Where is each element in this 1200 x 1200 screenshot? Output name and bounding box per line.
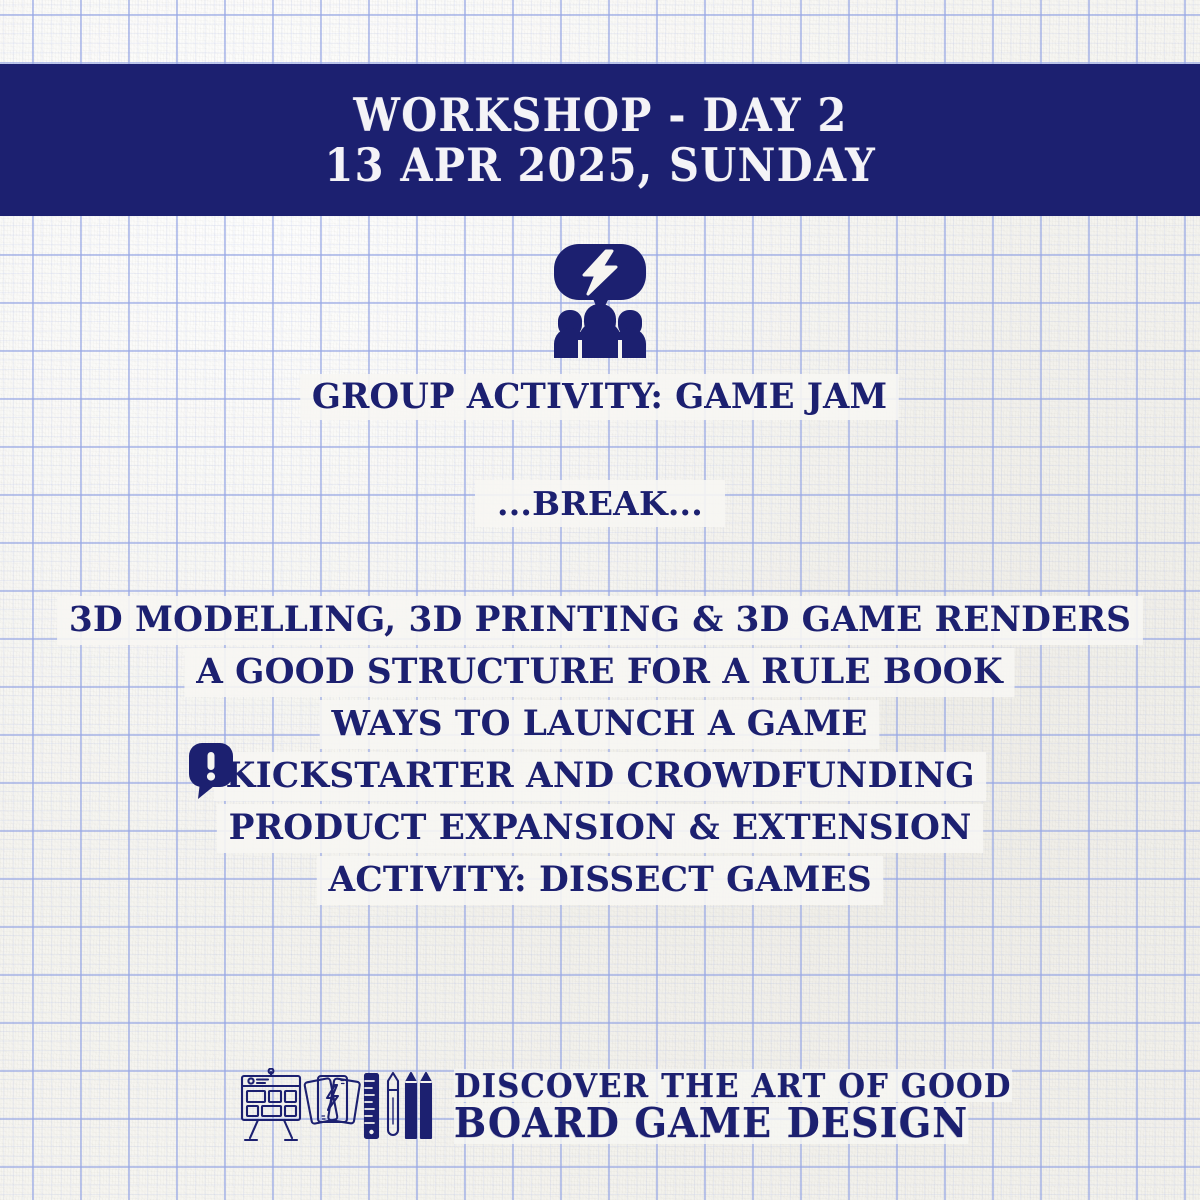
footer-brand-lockup: Discover the Art of Good Board Game Desi… <box>238 1068 1054 1144</box>
topic-label: Product Expansion & Extension <box>217 804 984 853</box>
footer: Discover the Art of Good Board Game Desi… <box>0 1058 1200 1200</box>
topic-row: 3D Modelling, 3D Printing & 3D Game Rend… <box>46 596 1154 645</box>
poster-canvas: Workshop - Day 2 13 Apr 2025, Sunday <box>0 0 1200 1200</box>
topic-row: Product Expansion & Extension <box>209 804 991 853</box>
wordmark-line-top: Discover the Art of Good <box>454 1069 1012 1102</box>
ruler-icon <box>365 1074 378 1138</box>
exclamation-speech-bubble-icon <box>188 742 234 800</box>
footer-wordmark: Discover the Art of Good Board Game Desi… <box>454 1069 1054 1144</box>
topic-row: Activity: Dissect Games <box>311 856 889 905</box>
pencils-icon <box>406 1073 431 1138</box>
presentation-easel-icon <box>242 1069 300 1140</box>
topic-row: Kickstarter and Crowdfunding <box>206 752 994 801</box>
craft-knife-icon <box>388 1073 398 1135</box>
group-brainstorm-icon <box>540 240 660 358</box>
break-section: ...Break... <box>0 480 1200 527</box>
topic-list: 3D Modelling, 3D Printing & 3D Game Rend… <box>0 596 1200 908</box>
header-title-line2: 13 Apr 2025, Sunday <box>324 140 875 190</box>
break-label: ...Break... <box>475 480 725 527</box>
topic-label: Kickstarter and Crowdfunding <box>214 752 987 801</box>
topic-label: Activity: Dissect Games <box>317 856 884 905</box>
playing-cards-lightning-icon <box>304 1076 360 1124</box>
group-activity-section: Group Activity: Game Jam <box>0 240 1200 420</box>
wordmark-line-bottom: Board Game Design <box>454 1103 968 1144</box>
topic-label: Ways to Launch a Game <box>320 700 880 749</box>
footer-icon-group <box>238 1068 438 1144</box>
topic-row: Ways to Launch a Game <box>314 700 885 749</box>
topic-label: 3D Modelling, 3D Printing & 3D Game Rend… <box>57 596 1143 645</box>
topic-label: A Good Structure for a Rule Book <box>185 648 1015 697</box>
group-activity-title: Group Activity: Game Jam <box>301 374 900 420</box>
topic-row: A Good Structure for a Rule Book <box>176 648 1023 697</box>
header-band: Workshop - Day 2 13 Apr 2025, Sunday <box>0 64 1200 216</box>
header-title-line1: Workshop - Day 2 <box>353 90 847 140</box>
